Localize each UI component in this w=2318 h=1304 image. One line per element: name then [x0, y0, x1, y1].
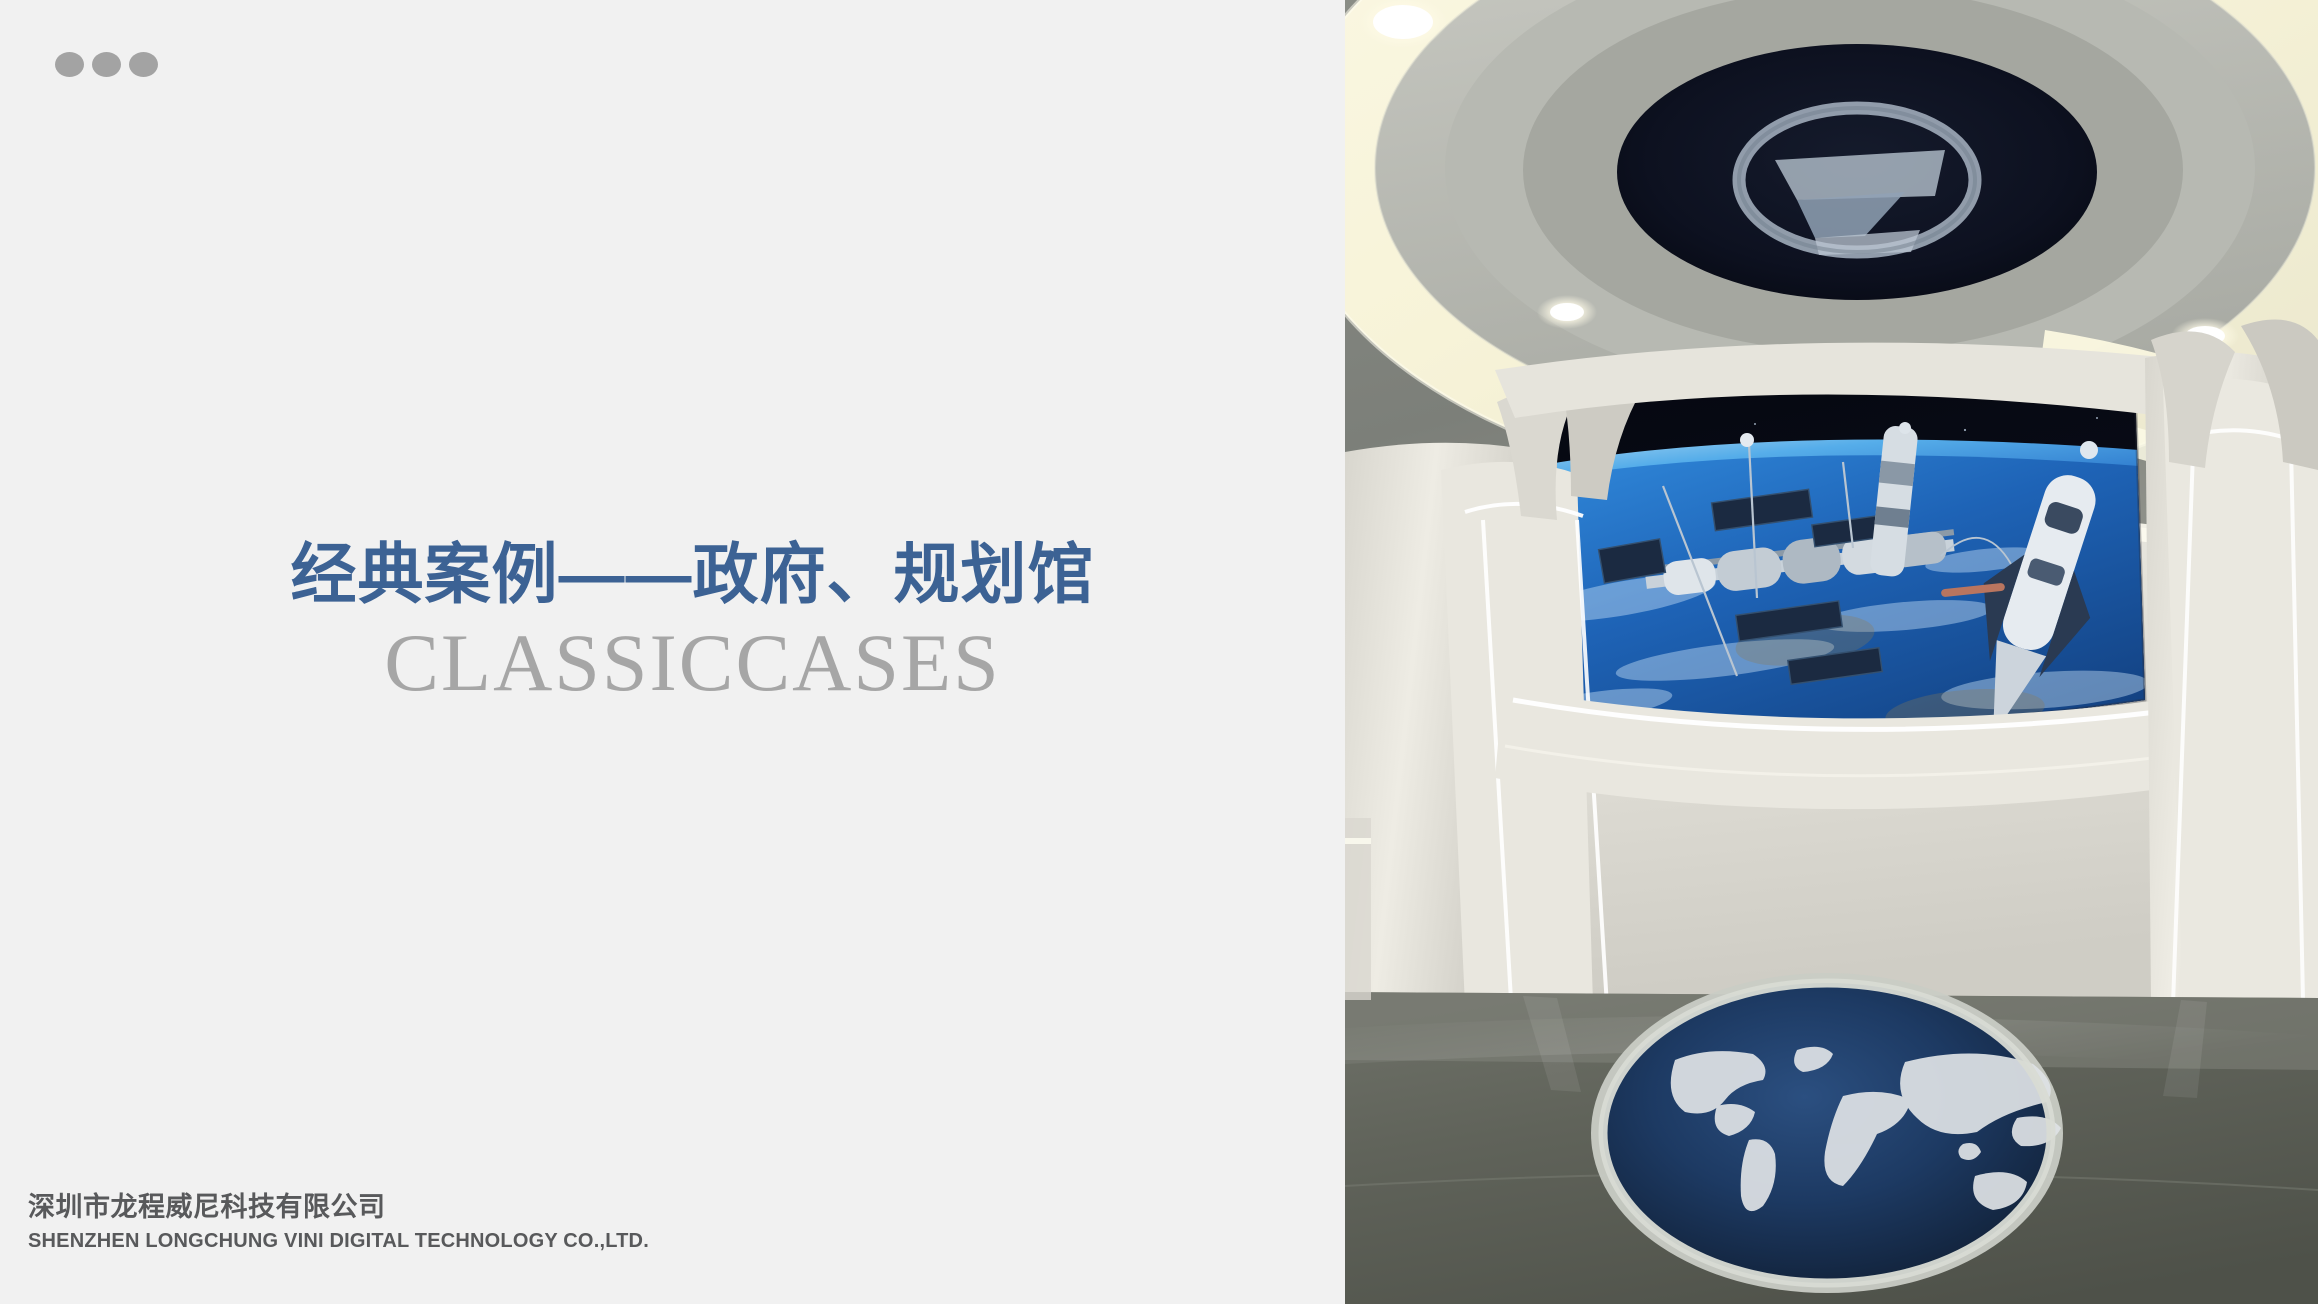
dot-icon-1	[55, 52, 84, 77]
left-content-panel: 经典案例——政府、规划馆 CLASSICCASES 深圳市龙程威尼科技有限公司 …	[0, 0, 1345, 1304]
title-block: 经典案例——政府、规划馆 CLASSICCASES	[0, 540, 1345, 704]
exhibition-hall-photo	[1345, 0, 2318, 1304]
floor-world-map-projection	[1591, 973, 2063, 1293]
dot-icon-2	[92, 52, 121, 77]
company-name-english: SHENZHEN LONGCHUNG VINI DIGITAL TECHNOLO…	[28, 1228, 649, 1254]
company-footer: 深圳市龙程威尼科技有限公司 SHENZHEN LONGCHUNG VINI DI…	[28, 1191, 649, 1254]
company-name-chinese: 深圳市龙程威尼科技有限公司	[28, 1191, 649, 1225]
page-title-chinese: 经典案例——政府、规划馆	[40, 540, 1345, 610]
slide-root: 经典案例——政府、规划馆 CLASSICCASES 深圳市龙程威尼科技有限公司 …	[0, 0, 2318, 1304]
background-doorway	[1345, 818, 1371, 1000]
hall-illustration	[1345, 0, 2318, 1304]
three-dots-decoration	[55, 52, 158, 77]
dot-icon-3	[129, 52, 158, 77]
page-subtitle-english: CLASSICCASES	[40, 622, 1345, 704]
